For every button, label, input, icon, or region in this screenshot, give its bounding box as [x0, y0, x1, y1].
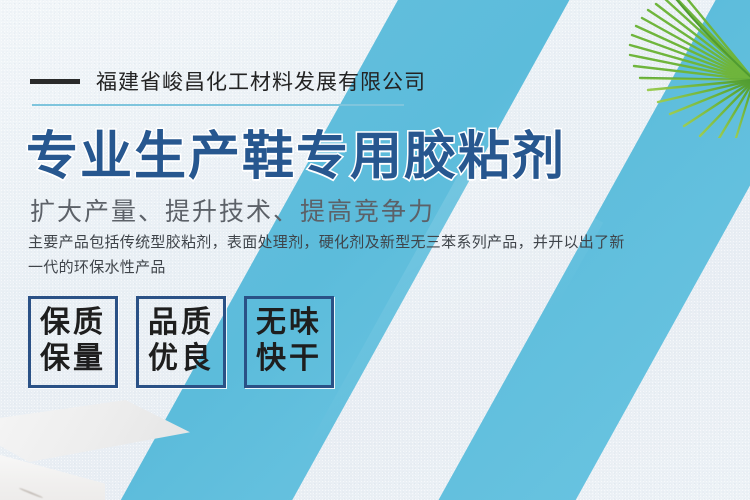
feature-badge: 品质 优良	[136, 296, 226, 388]
feature-badge-line1: 无味	[256, 305, 322, 341]
feature-badges: 保质 保量 品质 优良 无味 快干	[28, 296, 334, 388]
feature-badge: 无味 快干	[244, 296, 334, 388]
headline: 专业生产鞋专用胶粘剂	[26, 114, 566, 189]
feature-badge-line1: 保质	[40, 305, 106, 341]
description-text: 主要产品包括传统型胶粘剂，表面处理剂，硬化剂及新型无三苯系列产品，并开以出了新一…	[28, 230, 628, 280]
feature-badge-line2: 保量	[40, 341, 106, 377]
divider-rule	[32, 104, 404, 106]
company-name: 福建省峻昌化工材料发展有限公司	[96, 66, 426, 96]
subheadline: 扩大产量、提升技术、提高竞争力	[30, 192, 435, 228]
banner-content: 福建省峻昌化工材料发展有限公司 专业生产鞋专用胶粘剂 扩大产量、提升技术、提高竞…	[0, 0, 750, 500]
promo-banner: 福建省峻昌化工材料发展有限公司 专业生产鞋专用胶粘剂 扩大产量、提升技术、提高竞…	[0, 0, 750, 500]
brand-line: 福建省峻昌化工材料发展有限公司	[30, 66, 426, 96]
feature-badge-line2: 优良	[148, 341, 214, 377]
dash-icon	[30, 79, 80, 84]
feature-badge-line1: 品质	[148, 305, 214, 341]
feature-badge: 保质 保量	[28, 296, 118, 388]
feature-badge-line2: 快干	[256, 341, 322, 377]
